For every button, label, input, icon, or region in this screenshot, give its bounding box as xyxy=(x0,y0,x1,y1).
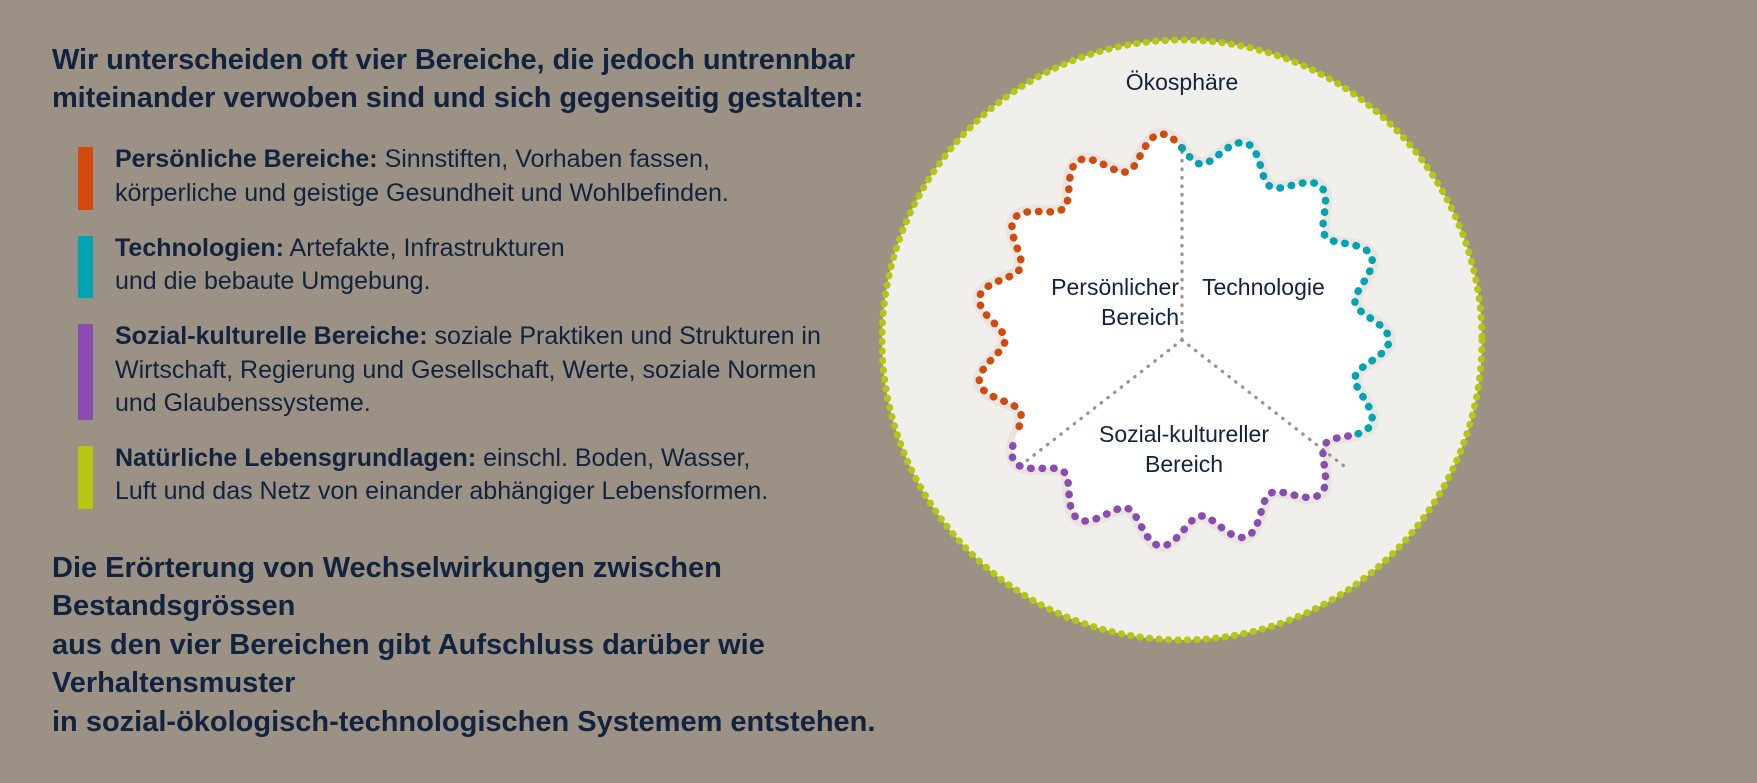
list-item-text: Persönliche Bereiche: Sinnstiften, Vorha… xyxy=(115,143,729,210)
list-item-line-2: und die bebaute Umgebung. xyxy=(115,265,565,298)
intro-line-2: miteinander verwoben sind und sich gegen… xyxy=(52,80,942,118)
list-item-line-2: Luft und das Netz von einander abhängige… xyxy=(115,475,768,508)
list-item-line-1: Sinnstiften, Vorhaben fassen, xyxy=(378,145,710,173)
outro-paragraph: Die Erörterung von Wechselwirkungen zwis… xyxy=(52,549,942,742)
color-swatch-technology xyxy=(78,236,93,299)
list-item-term: Sozial-kulturelle Bereiche: xyxy=(115,322,428,350)
label-oekosphaere: Ökosphäre xyxy=(1126,69,1239,95)
list-item-term: Persönliche Bereiche: xyxy=(115,145,378,173)
label-technologie: Technologie xyxy=(1202,274,1325,300)
outro-line-2: aus den vier Bereichen gibt Aufschluss d… xyxy=(52,626,942,703)
list-item-term: Natürliche Lebensgrundlagen: xyxy=(115,444,476,472)
outro-line-3: in sozial-ökologisch-technologischen Sys… xyxy=(52,703,942,742)
label-sozial-kultureller-bereich-line2: Bereich xyxy=(1145,451,1223,477)
label-persoenlicher-bereich-line1: Persönlicher xyxy=(1051,274,1179,300)
list-item-line-2: körperliche und geistige Gesundheit und … xyxy=(115,177,729,210)
list-item-line-3: und Glaubenssysteme. xyxy=(115,387,821,420)
intro-paragraph: Wir unterscheiden oft vier Bereiche, die… xyxy=(52,42,942,117)
list-item-sozial-kulturelle-bereiche: Sozial-kulturelle Bereiche: soziale Prak… xyxy=(78,320,942,420)
sets-diagram: Ökosphäre Persönlicher Bereich Technolog… xyxy=(862,0,1542,700)
list-item-natuerliche-lebensgrundlagen: Natürliche Lebensgrundlagen: einschl. Bo… xyxy=(78,442,942,509)
list-item-persoenliche-bereiche: Persönliche Bereiche: Sinnstiften, Vorha… xyxy=(78,143,942,210)
outro-line-1: Die Erörterung von Wechselwirkungen zwis… xyxy=(52,549,942,626)
color-swatch-nature xyxy=(78,446,93,509)
intro-line-1: Wir unterscheiden oft vier Bereiche, die… xyxy=(52,42,942,80)
list-item-text: Technologien: Artefakte, Infrastrukturen… xyxy=(115,232,565,299)
list-item-text: Natürliche Lebensgrundlagen: einschl. Bo… xyxy=(115,442,768,509)
list-item-line-1: Artefakte, Infrastrukturen xyxy=(284,234,565,262)
bullet-list: Persönliche Bereiche: Sinnstiften, Vorha… xyxy=(52,143,942,508)
list-item-line-2: Wirtschaft, Regierung und Gesellschaft, … xyxy=(115,354,821,387)
list-item-term: Technologien: xyxy=(115,234,284,262)
text-column: Wir unterscheiden oft vier Bereiche, die… xyxy=(52,42,942,741)
color-swatch-social xyxy=(78,324,93,420)
list-item-technologien: Technologien: Artefakte, Infrastrukturen… xyxy=(78,232,942,299)
color-swatch-personal xyxy=(78,147,93,210)
label-sozial-kultureller-bereich-line1: Sozial-kultureller xyxy=(1099,421,1269,447)
list-item-text: Sozial-kulturelle Bereiche: soziale Prak… xyxy=(115,320,821,420)
infographic-page: Wir unterscheiden oft vier Bereiche, die… xyxy=(0,0,1757,783)
list-item-line-1: einschl. Boden, Wasser, xyxy=(476,444,750,472)
label-persoenlicher-bereich-line2: Bereich xyxy=(1101,304,1179,330)
list-item-line-1: soziale Praktiken und Strukturen in xyxy=(428,322,821,350)
